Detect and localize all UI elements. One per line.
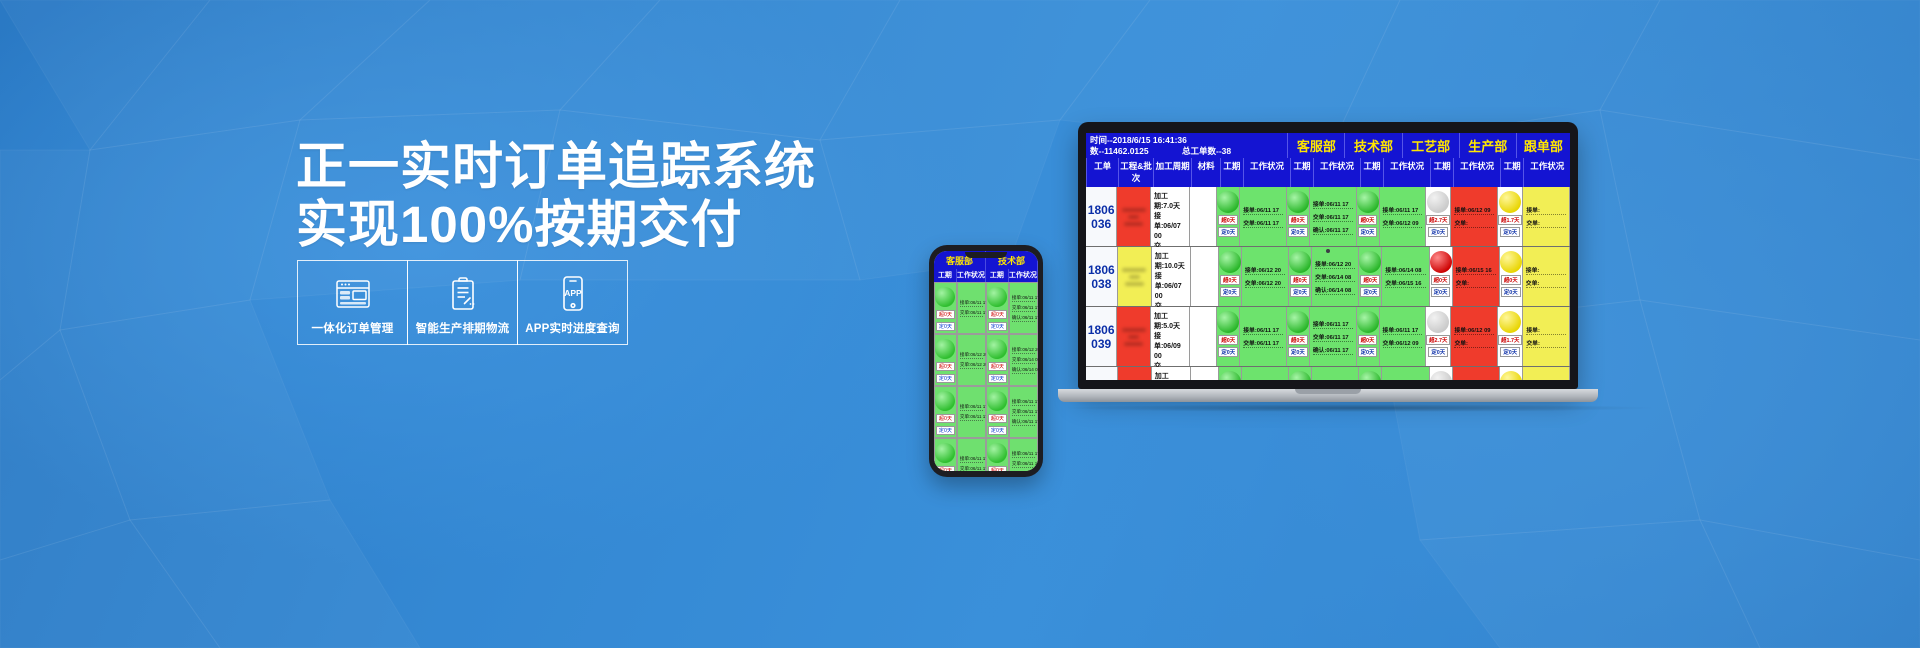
status-line: 确认:06/11 17: [1012, 315, 1035, 322]
status-dot-green: [987, 391, 1007, 411]
phone-subheader-duration: 工期: [986, 269, 1009, 282]
dashboard-header-row: 时间--2018/6/15 16:41:36 数--11462.0125 总工单…: [1086, 133, 1570, 158]
column-header-material: 材料: [1191, 158, 1219, 187]
status-dot-green: [1289, 371, 1311, 380]
status-line: 交单:06/11 17: [1012, 305, 1035, 312]
cell-processing-cycle: 加工期:7.0天接单:06/08 00交货:06/15 00: [1152, 367, 1191, 380]
cycle-line: 接单:06/09 00: [1154, 332, 1186, 362]
dashboard-total-orders-label: 总工单数--38: [1182, 146, 1231, 157]
status-line: 接单:: [1526, 205, 1566, 215]
table-row[interactable]: 1806039加工期:5.0天接单:06/09 00交货:06/14 00超0天…: [1086, 307, 1570, 367]
dashboard-rows: 1806036加工期:7.0天接单:06/07 00交货:06/14 00超0天…: [1086, 187, 1570, 380]
over-days-tag: 超2.7天: [1426, 215, 1450, 225]
cell-project-batch: [1118, 367, 1152, 380]
cell-status-merchandising[interactable]: 接单:交单:: [1523, 367, 1570, 380]
status-dot-yellow: [1499, 311, 1521, 333]
table-row[interactable]: 1806040加工期:7.0天接单:06/08 00交货:06/15 00超0天…: [1086, 367, 1570, 380]
phone-cell[interactable]: 超0天 定0天: [986, 386, 1009, 438]
over-days-tag: 超0天: [1360, 275, 1380, 285]
status-dot-red: [1430, 251, 1452, 273]
cell-status-cs[interactable]: 接单:06/12 20交单:06/12 20: [1242, 247, 1289, 306]
status-line: 交单:: [1454, 338, 1494, 348]
set-days-tag: 定0天: [1218, 227, 1238, 237]
status-line: 接单:06/11 17: [960, 456, 983, 463]
cell-work-order: 1806040: [1086, 367, 1118, 380]
cell-project-batch: [1117, 307, 1151, 366]
status-line: 交单:: [1454, 218, 1494, 228]
status-line: 交单:06/11 17: [1243, 218, 1283, 228]
phone-table-body: 超0天 定0天 超0天 定0天 超0天 定0天: [934, 282, 1038, 471]
phone-screen: 客服部 技术部 工期 工作状况 工期 工作状况 超0天 定0天: [934, 251, 1038, 471]
column-header-duration-production: 工期: [1430, 158, 1453, 187]
phone-cell[interactable]: 接单:06/12 20 交单:06/14 08 确认:06/14 08: [1009, 334, 1038, 386]
status-dot-green: [987, 339, 1007, 359]
status-line: 确认:06/11 17: [1313, 225, 1353, 235]
cell-status-tech[interactable]: 接单:06/11 17交单:06/11 17: [1312, 367, 1359, 380]
laptop-screen: 时间--2018/6/15 16:41:36 数--11462.0125 总工单…: [1086, 133, 1570, 380]
cycle-line: 加工期:10.0天: [1155, 252, 1187, 272]
status-line: 确认:06/11 17: [1012, 471, 1035, 472]
cell-duration-production[interactable]: 超2.7天定0天: [1426, 187, 1451, 246]
status-dot-green: [935, 443, 955, 463]
status-dot-yellow: [1499, 191, 1521, 213]
status-line: 接单:06/11 17: [1383, 205, 1423, 215]
cell-duration-production[interactable]: 超0天定0天: [1430, 247, 1453, 306]
phone-cell[interactable]: 超0天 定0天: [986, 334, 1009, 386]
set-days-tag: 定0天: [1500, 347, 1520, 357]
status-line: 接单:06/12 20: [1245, 265, 1285, 275]
status-line: 交单:06/12 20: [1245, 278, 1285, 288]
cell-duration-process[interactable]: 超0天定0天: [1359, 247, 1382, 306]
phone-column-cs-duration: 超0天 定0天 超0天 定0天 超0天 定0天: [934, 282, 957, 471]
redacted-text: [1121, 265, 1148, 289]
over-tag: 超0天: [936, 414, 955, 423]
cell-duration-merchandising[interactable]: 超1.7天定0天: [1498, 187, 1523, 246]
column-header-duration-merchandising: 工期: [1500, 158, 1523, 187]
table-row[interactable]: 1806036加工期:7.0天接单:06/07 00交货:06/14 00超0天…: [1086, 187, 1570, 247]
phone-subheader-duration: 工期: [934, 269, 957, 282]
work-order-prefix: 1806: [1088, 263, 1115, 277]
cell-duration-merchandising[interactable]: 超0天定0天: [1500, 367, 1523, 380]
dashboard-time-label: 时间--2018/6/15 16:41:36: [1090, 135, 1287, 146]
column-header-processing-cycle: 加工周期: [1153, 158, 1192, 187]
set-days-tag: 定0天: [1288, 347, 1308, 357]
status-dot-yellow: [1500, 371, 1522, 380]
over-days-tag: 超0天: [1288, 335, 1308, 345]
cell-duration-cs[interactable]: 超0天定0天: [1217, 187, 1240, 246]
set-days-tag: 定0天: [1431, 287, 1451, 297]
cell-status-cs[interactable]: 接单:06/11 17交单:06/11 17: [1242, 367, 1289, 380]
cell-duration-process[interactable]: 超0天定0天: [1357, 307, 1380, 366]
status-dot-green: [935, 339, 955, 359]
status-line: 交单:: [1526, 338, 1566, 348]
over-tag: 超0天: [936, 466, 955, 471]
cell-duration-production[interactable]: 超0天定0天: [1430, 367, 1453, 380]
over-days-tag: 超0天: [1288, 215, 1308, 225]
over-days-tag: 超0天: [1290, 275, 1310, 285]
status-dot-green: [1359, 371, 1381, 380]
webcam-icon: [1326, 249, 1330, 253]
set-tag: 定0天: [988, 374, 1007, 383]
status-dot-green: [1217, 311, 1239, 333]
order-tracking-dashboard: 时间--2018/6/15 16:41:36 数--11462.0125 总工单…: [1086, 133, 1570, 380]
cell-project-batch: [1117, 187, 1151, 246]
status-dot-gray: [1427, 311, 1449, 333]
status-line: 交单:: [1526, 278, 1566, 288]
status-dot-green: [1357, 311, 1379, 333]
set-days-tag: 定0天: [1500, 227, 1520, 237]
status-line: 确认:06/14 08: [1012, 367, 1035, 374]
phone-column-tech-duration: 超0天 定0天 超0天 定0天 超0天 定0天: [986, 282, 1009, 471]
over-tag: 超0天: [988, 362, 1007, 371]
laptop-base: [1058, 389, 1598, 402]
department-header-process: 工艺部: [1402, 133, 1459, 158]
set-days-tag: 定0天: [1428, 347, 1448, 357]
work-order-prefix: 1806: [1088, 323, 1115, 337]
status-line: 接单:06/12 20: [1012, 347, 1035, 354]
cell-processing-cycle: 加工期:10.0天接单:06/07 00交货:06/17 00: [1152, 247, 1191, 306]
phone-column-tech-status: 接单:06/11 17 交单:06/11 17 确认:06/11 17 接单:0…: [1009, 282, 1038, 471]
over-days-tag: 超0天: [1431, 275, 1451, 285]
cell-status-process[interactable]: 接单:06/11 17交单:06/12 09: [1380, 187, 1427, 246]
phone-cell[interactable]: 接单:06/11 17 交单:06/11 17: [957, 386, 986, 438]
feature-item-production-scheduling[interactable]: 智能生产排期物流: [407, 260, 518, 345]
set-tag: 定0天: [936, 426, 955, 435]
over-tag: 超0天: [936, 310, 955, 319]
cell-duration-cs[interactable]: 超0天定0天: [1219, 247, 1242, 306]
status-line: 接单:: [1526, 325, 1566, 335]
clipboard-schedule-icon: [446, 274, 480, 314]
department-header-customer-service: 客服部: [1287, 133, 1344, 158]
over-tag: 超0天: [936, 362, 955, 371]
over-days-tag: 超0天: [1218, 215, 1238, 225]
work-order-suffix: 038: [1091, 277, 1111, 291]
cell-status-process[interactable]: 接单:06/11 17交单:06/12 09: [1382, 367, 1429, 380]
svg-text:APP: APP: [564, 288, 582, 298]
cell-status-merchandising[interactable]: 接单:交单:: [1523, 247, 1570, 306]
cell-status-tech[interactable]: 接单:06/12 20交单:06/14 08确认:06/14 08: [1312, 247, 1359, 306]
status-line: 接单:06/12 09: [1454, 325, 1494, 335]
status-dot-green: [1357, 191, 1379, 213]
feature-label: APP实时进度查询: [525, 320, 619, 336]
page-title: 正一实时订单追踪系统 实现100%按期交付: [296, 138, 1056, 254]
phone-cell[interactable]: 超0天 定4天: [986, 438, 1009, 471]
phone-column-cs-status: 接单:06/11 17 交单:06/11 17 接单:06/12 20 交单:0…: [957, 282, 986, 471]
status-line: 交单:06/11 17: [1313, 332, 1353, 342]
cell-duration-cs[interactable]: 超0天定0天: [1219, 367, 1242, 380]
work-order-prefix: 1806: [1088, 203, 1115, 217]
cell-duration-tech[interactable]: 超0天定0天: [1287, 307, 1310, 366]
cell-status-merchandising[interactable]: 接单:交单:: [1523, 187, 1570, 246]
status-line: 交单:06/12 09: [1383, 338, 1423, 348]
mobile-app-icon: APP: [558, 274, 588, 314]
cell-duration-production[interactable]: 超2.7天定0天: [1426, 307, 1451, 366]
status-line: 接单:06/15 16: [1456, 265, 1496, 275]
set-days-tag: 定0天: [1428, 227, 1448, 237]
status-line: 交单:: [1456, 278, 1496, 288]
status-dot-green: [1287, 311, 1309, 333]
set-days-tag: 定0天: [1358, 347, 1378, 357]
work-order-suffix: 039: [1091, 337, 1111, 351]
promo-banner: 正一实时订单追踪系统 实现100%按期交付 一体化订单管理: [0, 0, 1920, 648]
cell-status-cs[interactable]: 接单:06/11 17交单:06/11 17: [1240, 307, 1287, 366]
cell-duration-tech[interactable]: 超0天定0天: [1289, 247, 1312, 306]
over-days-tag: 超0天: [1358, 215, 1378, 225]
over-tag: 超0天: [988, 310, 1007, 319]
department-header-technology: 技术部: [1344, 133, 1401, 158]
over-days-tag: 超2.7天: [1426, 335, 1450, 345]
column-header-status-tech: 工作状况: [1313, 158, 1360, 187]
status-dot-gray: [1430, 371, 1452, 380]
laptop-mockup: 时间--2018/6/15 16:41:36 数--11462.0125 总工单…: [1058, 122, 1598, 412]
laptop-lid: 时间--2018/6/15 16:41:36 数--11462.0125 总工单…: [1078, 122, 1578, 389]
phone-cell[interactable]: 超0天 定0天: [986, 282, 1009, 334]
cell-status-production[interactable]: 接单:06/12 09交单:: [1451, 187, 1498, 246]
cell-material: [1190, 307, 1217, 366]
status-line: 交单:06/15 16: [1385, 278, 1425, 288]
cell-status-cs[interactable]: 接单:06/11 17交单:06/11 17: [1240, 187, 1287, 246]
cell-status-process[interactable]: 接单:06/11 17交单:06/12 09: [1380, 307, 1427, 366]
feature-label: 智能生产排期物流: [416, 320, 510, 336]
phone-cell[interactable]: 接单:06/11 17 交单:06/11 17 确认:06/11 17: [1009, 386, 1038, 438]
cell-status-process[interactable]: 接单:06/14 08交单:06/15 16: [1382, 247, 1429, 306]
redacted-text: [1120, 205, 1147, 229]
table-row[interactable]: 1806038加工期:10.0天接单:06/07 00交货:06/17 00超0…: [1086, 247, 1570, 307]
column-header-work-order: 工单: [1086, 158, 1118, 187]
cell-project-batch: [1118, 247, 1152, 306]
status-line: 交单:06/11 17: [960, 466, 983, 472]
phone-cell[interactable]: 接单:06/12 20 交单:06/12 20: [957, 334, 986, 386]
status-line: 交单:06/11 17: [1012, 461, 1035, 468]
cell-status-production[interactable]: 接单:06/15 16交单:: [1453, 247, 1500, 306]
status-line: 确认:06/14 08: [1315, 285, 1355, 295]
column-header-status-production: 工作状况: [1453, 158, 1500, 187]
set-tag: 定0天: [988, 426, 1007, 435]
column-header-status-merchandising: 工作状况: [1523, 158, 1570, 187]
cell-status-tech[interactable]: 接单:06/11 17交单:06/11 17确认:06/11 17: [1310, 187, 1357, 246]
status-dot-green: [1217, 191, 1239, 213]
over-days-tag: 超0天: [1501, 275, 1521, 285]
status-line: 接单:06/11 17: [1243, 205, 1283, 215]
cycle-line: 接单:06/07 00: [1155, 272, 1187, 302]
cell-work-order: 1806036: [1086, 187, 1117, 246]
status-line: 交单:06/11 17: [1012, 409, 1035, 416]
column-header-duration-process: 工期: [1360, 158, 1383, 187]
status-line: 接单:06/11 17: [1012, 451, 1035, 458]
department-header-production: 生产部: [1459, 133, 1516, 158]
set-days-tag: 定0天: [1218, 347, 1238, 357]
dashboard-subheader-row: 工单 工程&批次 加工周期 材料 工期 工作状况 工期 工作状况 工期 工作状况…: [1086, 158, 1570, 187]
status-dot-green: [935, 287, 955, 307]
cycle-line: 加工期:7.0天: [1155, 372, 1187, 380]
set-days-tag: 定0天: [1288, 227, 1308, 237]
column-header-status-process: 工作状况: [1383, 158, 1430, 187]
status-dot-yellow: [1500, 251, 1522, 273]
phone-cell[interactable]: 接单:06/11 17 交单:06/11 17 确认:06/11 17: [1009, 438, 1038, 471]
cell-processing-cycle: 加工期:7.0天接单:06/07 00交货:06/14 00: [1151, 187, 1190, 246]
cell-status-production[interactable]: 接单:06/12 09交单:: [1453, 367, 1500, 380]
status-line: 接单:06/14 08: [1385, 265, 1425, 275]
cell-duration-tech[interactable]: 超0天定0天: [1287, 187, 1310, 246]
cell-work-order: 1806038: [1086, 247, 1118, 306]
phone-cell[interactable]: 超0天 定0天: [934, 282, 957, 334]
phone-cell[interactable]: 接单:06/11 17 交单:06/11 17 确认:06/11 17: [1009, 282, 1038, 334]
dashboard-layout-icon: [333, 274, 373, 314]
column-header-duration-cs: 工期: [1220, 158, 1243, 187]
department-header-merchandising: 跟单部: [1516, 133, 1570, 158]
status-line: 接单:06/11 17: [1243, 325, 1283, 335]
feature-list: 一体化订单管理 智能生产排期物流: [297, 260, 628, 345]
over-tag: 超0天: [988, 414, 1007, 423]
status-line: 交单:06/11 17: [960, 414, 983, 421]
cycle-line: 接单:06/07 00: [1154, 212, 1186, 242]
phone-mockup: 客服部 技术部 工期 工作状况 工期 工作状况 超0天 定0天: [929, 245, 1043, 477]
status-line: 接单:06/11 17: [1012, 295, 1035, 302]
status-line: 交单:06/14 08: [1012, 357, 1035, 364]
status-line: 接单:06/11 17: [1012, 399, 1035, 406]
cycle-line: 加工期:5.0天: [1154, 312, 1186, 332]
cell-duration-merchandising[interactable]: 超1.7天定0天: [1498, 307, 1523, 366]
cell-status-merchandising[interactable]: 接单:交单:: [1523, 307, 1570, 366]
status-dot-green: [935, 391, 955, 411]
cell-material: [1191, 247, 1219, 306]
status-line: 接单:06/11 17: [960, 300, 983, 307]
cycle-line: 加工期:7.0天: [1154, 192, 1186, 212]
over-days-tag: 超1.7天: [1498, 215, 1522, 225]
phone-subheader-status: 工作状况: [1009, 269, 1038, 282]
status-dot-green: [987, 287, 1007, 307]
status-line: 交单:06/11 17: [960, 310, 983, 317]
dashboard-info-block: 时间--2018/6/15 16:41:36 数--11462.0125 总工单…: [1086, 133, 1287, 158]
set-tag: 定0天: [936, 374, 955, 383]
work-order-suffix: 036: [1091, 217, 1111, 231]
phone-subheader-row: 工期 工作状况 工期 工作状况: [934, 269, 1038, 282]
feature-item-app-progress-query[interactable]: APP APP实时进度查询: [517, 260, 628, 345]
cell-duration-tech[interactable]: 超0天定0天: [1289, 367, 1312, 380]
cell-material: [1191, 367, 1219, 380]
column-header-project-batch: 工程&批次: [1118, 158, 1153, 187]
status-line: 交单:06/12 20: [960, 362, 983, 369]
feature-item-order-management[interactable]: 一体化订单管理: [297, 260, 408, 345]
status-line: 确认:06/11 17: [1012, 419, 1035, 426]
phone-cell[interactable]: 接单:06/11 17 交单:06/11 17: [957, 282, 986, 334]
cell-duration-process[interactable]: 超0天定0天: [1357, 187, 1380, 246]
column-header-duration-tech: 工期: [1290, 158, 1313, 187]
status-dot-green: [1219, 251, 1241, 273]
status-line: 接单:06/11 17: [1313, 319, 1353, 329]
status-line: 交单:06/12 09: [1383, 218, 1423, 228]
status-line: 接单:: [1526, 265, 1566, 275]
laptop-shadow: [1058, 404, 1658, 412]
over-days-tag: 超0天: [1220, 275, 1240, 285]
status-line: 接单:06/11 17: [1383, 325, 1423, 335]
feature-label: 一体化订单管理: [312, 320, 394, 336]
status-line: 交单:06/11 17: [1313, 212, 1353, 222]
set-days-tag: 定0天: [1358, 227, 1378, 237]
status-line: 接单:06/11 17: [960, 404, 983, 411]
cell-work-order: 1806039: [1086, 307, 1117, 366]
over-days-tag: 超1.7天: [1498, 335, 1522, 345]
cell-status-production[interactable]: 接单:06/12 09交单:: [1451, 307, 1498, 366]
status-line: 交单:: [1526, 218, 1566, 228]
cell-processing-cycle: 加工期:5.0天接单:06/09 00交货:06/14 00: [1151, 307, 1190, 366]
over-days-tag: 超0天: [1218, 335, 1238, 345]
status-dot-green: [987, 443, 1007, 463]
status-dot-green: [1219, 371, 1241, 380]
status-line: 接单:06/12 20: [1315, 259, 1355, 269]
status-dot-green: [1359, 251, 1381, 273]
column-header-status-cs: 工作状况: [1243, 158, 1290, 187]
set-days-tag: 定0天: [1220, 287, 1240, 297]
phone-cell[interactable]: 接单:06/11 17 交单:06/11 17: [957, 438, 986, 471]
phone-subheader-status: 工作状况: [957, 269, 986, 282]
cell-duration-process[interactable]: 超0天定0天: [1359, 367, 1382, 380]
cell-material: [1190, 187, 1217, 246]
cell-status-tech[interactable]: 接单:06/11 17交单:06/11 17确认:06/11 17: [1310, 307, 1357, 366]
status-dot-green: [1287, 191, 1309, 213]
status-line: 接单:06/12 20: [960, 352, 983, 359]
status-line: 接单:06/11 17: [1313, 199, 1353, 209]
phone-notch: [965, 252, 1007, 258]
headline-line-1: 正一实时订单追踪系统: [296, 138, 816, 195]
set-tag: 定0天: [988, 322, 1007, 331]
phone-cell[interactable]: 超0天 定0天: [934, 334, 957, 386]
set-days-tag: 定0天: [1360, 287, 1380, 297]
phone-cell[interactable]: 超0天 定0天: [934, 386, 957, 438]
status-line: 确认:06/11 17: [1313, 345, 1353, 355]
status-line: 交单:06/14 08: [1315, 272, 1355, 282]
set-days-tag: 定0天: [1501, 287, 1521, 297]
over-days-tag: 超0天: [1358, 335, 1378, 345]
dashboard-count-label: 数--11462.0125: [1090, 146, 1182, 157]
status-line: 接单:06/12 09: [1454, 205, 1494, 215]
status-dot-green: [1289, 251, 1311, 273]
phone-cell[interactable]: 超0天 定0天: [934, 438, 957, 471]
cell-duration-merchandising[interactable]: 超0天定0天: [1500, 247, 1523, 306]
over-tag: 超0天: [988, 466, 1007, 471]
set-days-tag: 定0天: [1290, 287, 1310, 297]
status-line: 交单:06/11 17: [1243, 338, 1283, 348]
redacted-text: [1120, 325, 1147, 349]
set-tag: 定0天: [936, 322, 955, 331]
status-dot-gray: [1427, 191, 1449, 213]
cell-duration-cs[interactable]: 超0天定0天: [1217, 307, 1240, 366]
